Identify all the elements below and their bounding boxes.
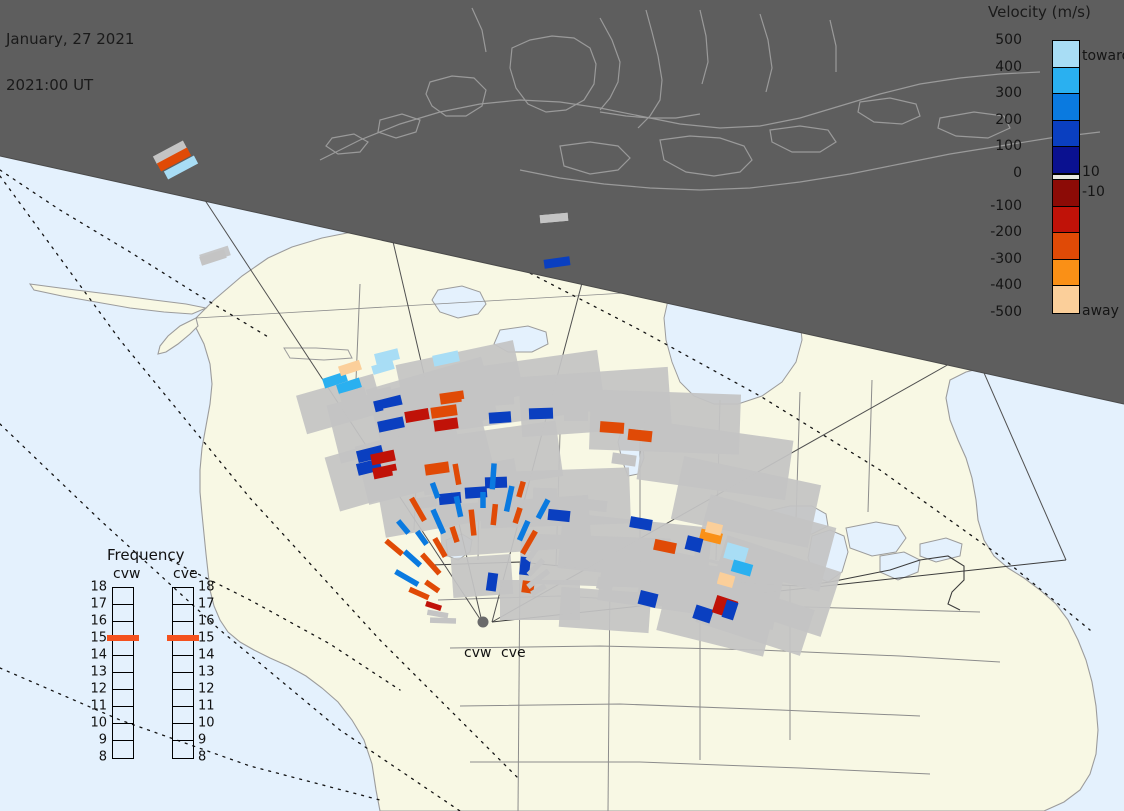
frequency-tick-label: 10 — [85, 716, 107, 731]
frequency-cell — [113, 588, 133, 605]
frequency-cell — [113, 639, 133, 656]
frequency-column-label-cve: cve — [173, 566, 198, 582]
frequency-tick-label: 12 — [85, 682, 107, 697]
frequency-tick-label: 13 — [85, 665, 107, 680]
velocity-cell[interactable] — [547, 509, 570, 522]
velocity-tick-label: 100 — [976, 138, 1022, 154]
frequency-cell — [173, 707, 193, 724]
velocity-cell[interactable] — [489, 411, 512, 424]
frequency-bar-cve[interactable] — [172, 587, 194, 759]
frequency-cell — [173, 639, 193, 656]
frequency-cell — [173, 656, 193, 673]
frequency-tick-label: 14 — [198, 648, 220, 663]
frequency-tick-label: 15 — [85, 631, 107, 646]
frequency-tick-label: 9 — [198, 733, 220, 748]
velocity-color-segment — [1053, 121, 1079, 148]
velocity-color-segment — [1053, 260, 1079, 287]
frequency-cell — [113, 673, 133, 690]
alaska-island-1 — [284, 348, 352, 360]
plot-date: January, 27 2021 — [6, 32, 134, 47]
frequency-cell — [173, 605, 193, 622]
ground-scatter-cell[interactable] — [461, 397, 484, 410]
velocity-tick-label: -300 — [976, 251, 1022, 267]
velocity-cell[interactable] — [485, 477, 507, 489]
velocity-legend: Velocity (m/s) 5004003002001000-100-200-… — [980, 0, 1124, 340]
frequency-tick-label: 14 — [85, 648, 107, 663]
ground-scatter-cell[interactable] — [531, 395, 555, 407]
frequency-cell — [113, 605, 133, 622]
frequency-tick-label: 17 — [198, 597, 220, 612]
frequency-cell — [173, 724, 193, 741]
frequency-tick-label: 8 — [85, 750, 107, 765]
ground-scatter-cell[interactable] — [584, 499, 607, 512]
velocity-tick-label: -200 — [976, 224, 1022, 240]
superdarn-map-plot: January, 27 2021 2021:00 UT Velocity (m/… — [0, 0, 1124, 811]
velocity-away-label: away — [1082, 303, 1119, 319]
frequency-tick-label: 11 — [198, 699, 220, 714]
frequency-marker-cvw — [107, 635, 139, 641]
velocity-color-segment — [1053, 233, 1079, 260]
frequency-marker-cve — [167, 635, 199, 641]
velocity-color-segment — [1053, 147, 1079, 174]
frequency-legend-title: Frequency — [107, 546, 185, 564]
frequency-cell — [113, 656, 133, 673]
frequency-tick-label: 13 — [198, 665, 220, 680]
velocity-positive-threshold-label: 10 — [1082, 164, 1100, 180]
velocity-tick-label: 0 — [976, 165, 1022, 181]
velocity-tick-label: -100 — [976, 198, 1022, 214]
frequency-cell — [113, 741, 133, 758]
frequency-tick-label: 16 — [198, 614, 220, 629]
frequency-cell — [173, 690, 193, 707]
frequency-tick-label: 8 — [198, 750, 220, 765]
radar-site-label-cve: cve — [501, 645, 526, 661]
ground-scatter-patch — [559, 587, 652, 633]
velocity-cell[interactable] — [480, 492, 486, 508]
ground-scatter-cell[interactable] — [430, 617, 456, 623]
velocity-negative-threshold-label: -10 — [1082, 184, 1105, 200]
velocity-tick-label: -400 — [976, 277, 1022, 293]
frequency-cell — [173, 588, 193, 605]
velocity-color-segment — [1053, 68, 1079, 95]
frequency-tick-label: 17 — [85, 597, 107, 612]
frequency-cell — [113, 707, 133, 724]
plot-time: 2021:00 UT — [6, 78, 134, 93]
velocity-tick-label: 200 — [976, 112, 1022, 128]
radar-site-marker — [478, 617, 489, 628]
frequency-column-label-cvw: cvw — [113, 566, 140, 582]
velocity-colorbar[interactable] — [1052, 40, 1080, 314]
frequency-tick-label: 11 — [85, 699, 107, 714]
velocity-color-segment — [1053, 207, 1079, 234]
velocity-cell[interactable] — [600, 421, 625, 434]
velocity-tick-label: -500 — [976, 304, 1022, 320]
velocity-color-segment — [1053, 94, 1079, 121]
frequency-tick-label: 9 — [85, 733, 107, 748]
velocity-tick-label: 500 — [976, 32, 1022, 48]
frequency-cell — [173, 741, 193, 758]
velocity-color-segment — [1053, 41, 1079, 68]
velocity-tick-label: 400 — [976, 59, 1022, 75]
frequency-cell — [113, 690, 133, 707]
velocity-color-segment — [1053, 180, 1079, 207]
frequency-legend: Frequency cvw18171615141312111098cve1817… — [88, 546, 238, 796]
radar-site-label-cvw: cvw — [464, 645, 491, 661]
ground-scatter-cell[interactable] — [564, 410, 588, 421]
frequency-tick-label: 18 — [198, 580, 220, 595]
velocity-cell[interactable] — [529, 408, 553, 420]
velocity-toward-label: toward — [1082, 48, 1124, 64]
plot-title-block: January, 27 2021 2021:00 UT — [6, 2, 134, 123]
frequency-tick-label: 12 — [198, 682, 220, 697]
velocity-tick-label: 300 — [976, 85, 1022, 101]
frequency-tick-label: 10 — [198, 716, 220, 731]
frequency-tick-label: 18 — [85, 580, 107, 595]
velocity-color-segment — [1053, 286, 1079, 313]
frequency-tick-label: 16 — [85, 614, 107, 629]
ground-scatter-cell[interactable] — [533, 488, 557, 500]
velocity-legend-title: Velocity (m/s) — [988, 3, 1091, 21]
frequency-cell — [173, 673, 193, 690]
frequency-cell — [113, 724, 133, 741]
frequency-bar-cvw[interactable] — [112, 587, 134, 759]
frequency-tick-label: 15 — [198, 631, 220, 646]
ground-scatter-cell[interactable] — [492, 393, 515, 406]
